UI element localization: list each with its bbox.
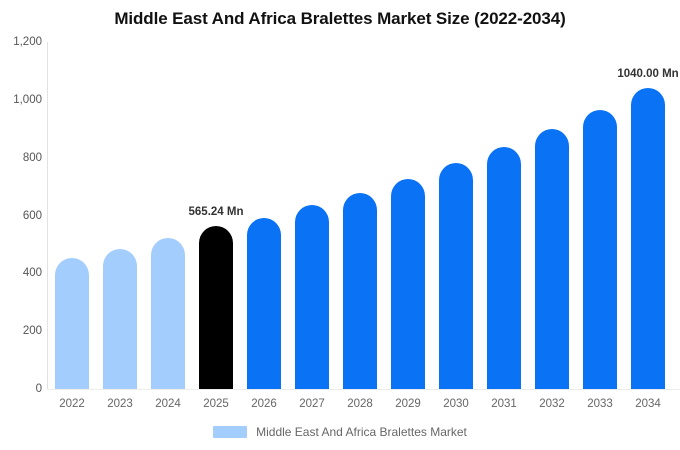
bar-slot	[624, 42, 672, 389]
chart-container: Middle East And Africa Bralettes Market …	[0, 0, 680, 450]
x-axis-tick-label: 2025	[192, 398, 240, 410]
bar-2024[interactable]	[151, 238, 185, 389]
x-axis-tick-label: 2027	[288, 398, 336, 410]
x-axis-tick-labels: 2022202320242025202620272028202920302031…	[48, 398, 680, 416]
bars-layer: 565.24 Mn1040.00 Mn	[48, 42, 680, 389]
bar-2022[interactable]	[55, 258, 89, 389]
y-axis-tick-label: 200	[2, 325, 42, 337]
bar-2028[interactable]	[343, 193, 377, 389]
bar-2026[interactable]	[247, 218, 281, 389]
x-axis-tick-label: 2028	[336, 398, 384, 410]
x-axis-tick-label: 2023	[96, 398, 144, 410]
bar-2025[interactable]	[199, 226, 233, 389]
y-axis-tick-labels: 02004006008001,0001,200	[0, 0, 42, 450]
bar-slot	[384, 42, 432, 389]
x-axis-tick-label: 2030	[432, 398, 480, 410]
bar-slot	[336, 42, 384, 389]
x-axis-tick-label: 2022	[48, 398, 96, 410]
bar-2023[interactable]	[103, 249, 137, 389]
bar-slot	[576, 42, 624, 389]
bar-slot	[96, 42, 144, 389]
bar-2029[interactable]	[391, 179, 425, 390]
x-axis-tick-label: 2026	[240, 398, 288, 410]
bar-2033[interactable]	[583, 110, 617, 389]
bar-2027[interactable]	[295, 205, 329, 389]
x-axis-tick-label: 2032	[528, 398, 576, 410]
x-axis-tick-label: 2024	[144, 398, 192, 410]
y-axis-tick-label: 1,200	[2, 36, 42, 48]
legend-swatch-icon	[213, 426, 247, 438]
bar-2034[interactable]	[631, 88, 665, 389]
chart-title: Middle East And Africa Bralettes Market …	[0, 9, 680, 29]
y-axis-tick-label: 400	[2, 267, 42, 279]
x-axis-tick-label: 2029	[384, 398, 432, 410]
x-axis-tick-label: 2031	[480, 398, 528, 410]
bar-slot	[432, 42, 480, 389]
bar-2031[interactable]	[487, 147, 521, 389]
bar-slot	[288, 42, 336, 389]
bar-slot	[48, 42, 96, 389]
bar-2030[interactable]	[439, 163, 473, 389]
bar-slot	[528, 42, 576, 389]
bar-2032[interactable]	[535, 129, 569, 389]
x-axis-tick-label: 2033	[576, 398, 624, 410]
legend-label: Middle East And Africa Bralettes Market	[256, 425, 467, 439]
chart-legend: Middle East And Africa Bralettes Market	[0, 425, 680, 439]
y-axis-tick-label: 0	[2, 383, 42, 395]
y-axis-tick-label: 1,000	[2, 94, 42, 106]
bar-slot	[240, 42, 288, 389]
y-axis-tick-label: 800	[2, 152, 42, 164]
bar-value-label-2025: 565.24 Mn	[189, 206, 244, 218]
y-axis-tick-label: 600	[2, 210, 42, 222]
bar-value-label-2034: 1040.00 Mn	[617, 68, 678, 80]
bar-slot	[480, 42, 528, 389]
x-axis-tick-label: 2034	[624, 398, 672, 410]
x-axis-line	[47, 389, 680, 390]
bar-slot	[144, 42, 192, 389]
